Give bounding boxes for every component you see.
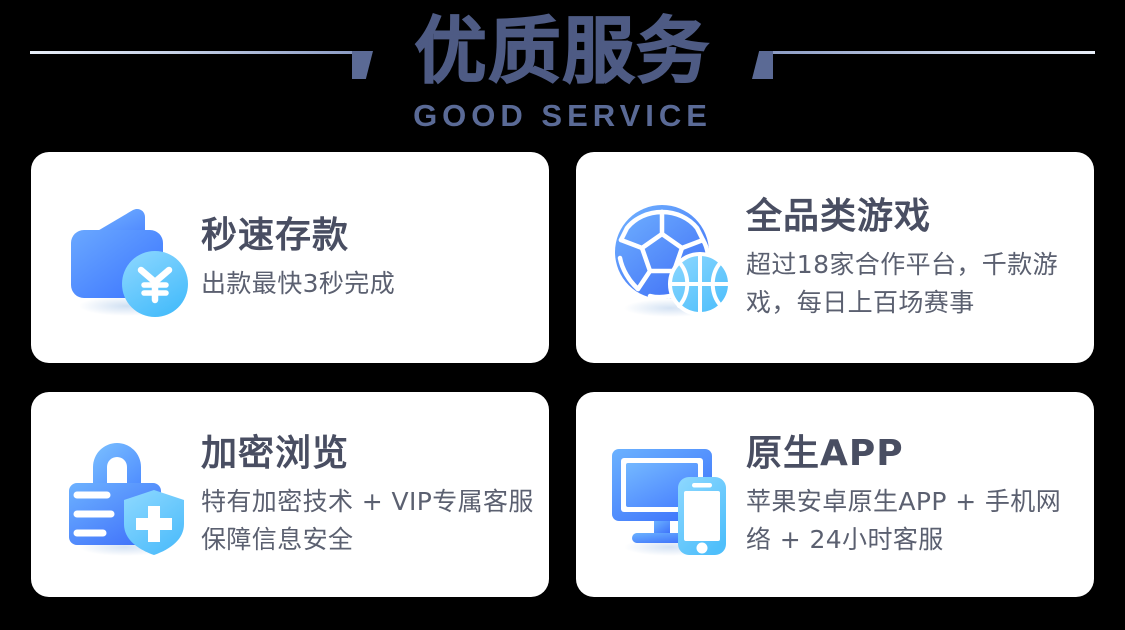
- page-title: 优质服务: [0, 6, 1125, 96]
- card-subtitle: 出款最快3秒完成: [201, 265, 395, 303]
- card-title: 秒速存款: [201, 213, 395, 259]
- feature-card-encryption[interactable]: 加密浏览 特有加密技术 + VIP专属客服保障信息安全: [31, 392, 549, 597]
- feature-card-games[interactable]: 全品类游戏 超过18家合作平台，千款游戏，每日上百场赛事: [576, 152, 1094, 363]
- card-text: 全品类游戏 超过18家合作平台，千款游戏，每日上百场赛事: [736, 194, 1094, 322]
- page-subtitle: GOOD SERVICE: [0, 97, 1125, 135]
- card-subtitle: 超过18家合作平台，千款游戏，每日上百场赛事: [746, 246, 1082, 322]
- card-text: 原生APP 苹果安卓原生APP + 手机网络 + 24小时客服: [736, 431, 1094, 559]
- lock-shield-icon: [59, 429, 191, 561]
- card-subtitle: 苹果安卓原生APP + 手机网络 + 24小时客服: [746, 483, 1082, 559]
- poster-root: 优质服务 GOOD SERVICE: [0, 0, 1125, 630]
- soccer-basketball-icon: [604, 192, 736, 324]
- card-text: 加密浏览 特有加密技术 + VIP专属客服保障信息安全: [191, 431, 549, 559]
- feature-card-deposit[interactable]: 秒速存款 出款最快3秒完成: [31, 152, 549, 363]
- header: 优质服务 GOOD SERVICE: [0, 0, 1125, 150]
- card-text: 秒速存款 出款最快3秒完成: [191, 213, 407, 303]
- feature-card-native-app[interactable]: 原生APP 苹果安卓原生APP + 手机网络 + 24小时客服: [576, 392, 1094, 597]
- card-title: 加密浏览: [201, 431, 537, 477]
- card-title: 原生APP: [746, 431, 1082, 477]
- card-title: 全品类游戏: [746, 194, 1082, 240]
- card-subtitle: 特有加密技术 + VIP专属客服保障信息安全: [201, 483, 537, 559]
- monitor-phone-icon: [604, 429, 736, 561]
- wallet-icon: [59, 192, 191, 324]
- feature-card-grid: 秒速存款 出款最快3秒完成: [31, 152, 1094, 597]
